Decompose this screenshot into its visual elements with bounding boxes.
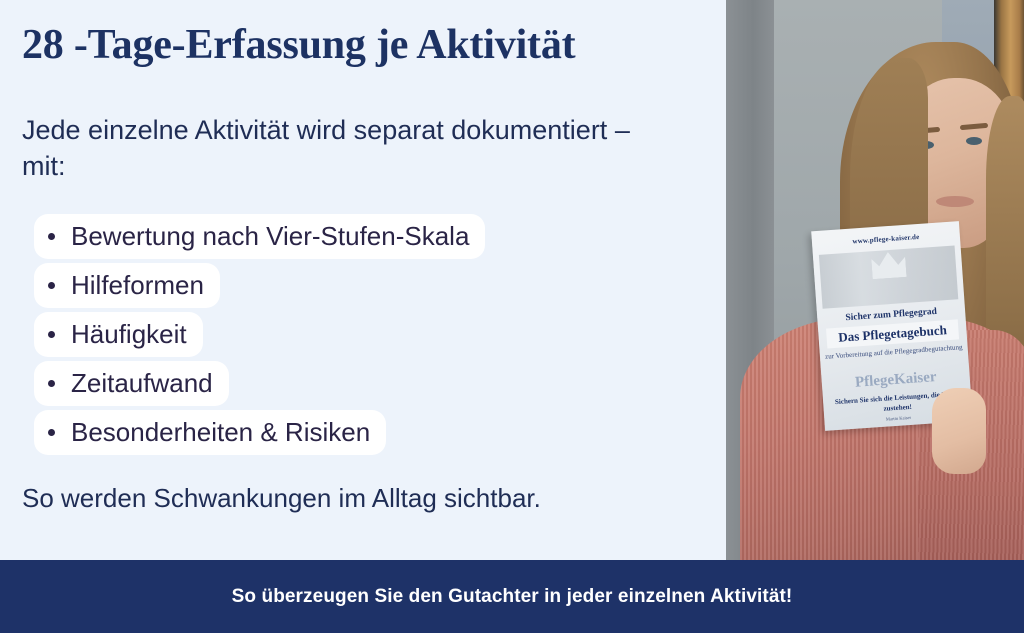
footer-banner: So überzeugen Sie den Gutachter in jeder… [0,560,1024,633]
list-item: Häufigkeit [34,312,203,357]
list-item-label: Hilfeformen [71,267,204,304]
closing-text: So werden Schwankungen im Alltag sichtba… [22,481,702,516]
list-item-label: Besonderheiten & Risiken [71,414,370,451]
list-item-label: Häufigkeit [71,316,187,353]
slide-canvas: www.pflege-kaiser.de Sicher zum Pflegegr… [0,0,1024,633]
bullet-dot-icon [48,331,55,338]
bullet-dot-icon [48,282,55,289]
bullet-dot-icon [48,380,55,387]
feature-list: Bewertung nach Vier-Stufen-Skala Hilfefo… [34,214,654,459]
bullet-dot-icon [48,233,55,240]
presenter-photo: www.pflege-kaiser.de Sicher zum Pflegegr… [722,0,1024,575]
photo-hand [932,388,986,474]
photo-eye-right [966,137,982,145]
list-item: Hilfeformen [34,263,220,308]
intro-text: Jede einzelne Aktivität wird separat dok… [22,112,662,185]
page-title: 28 -Tage-Erfassung je Aktivität [22,22,712,69]
bullet-dot-icon [48,429,55,436]
photo-lips [936,196,974,207]
list-item: Besonderheiten & Risiken [34,410,386,455]
footer-banner-text: So überzeugen Sie den Gutachter in jeder… [232,586,793,608]
list-item: Bewertung nach Vier-Stufen-Skala [34,214,485,259]
list-item: Zeitaufwand [34,361,229,406]
list-item-label: Zeitaufwand [71,365,213,402]
content-panel: 28 -Tage-Erfassung je Aktivität Jede ein… [0,0,726,560]
list-item-label: Bewertung nach Vier-Stufen-Skala [71,218,469,255]
